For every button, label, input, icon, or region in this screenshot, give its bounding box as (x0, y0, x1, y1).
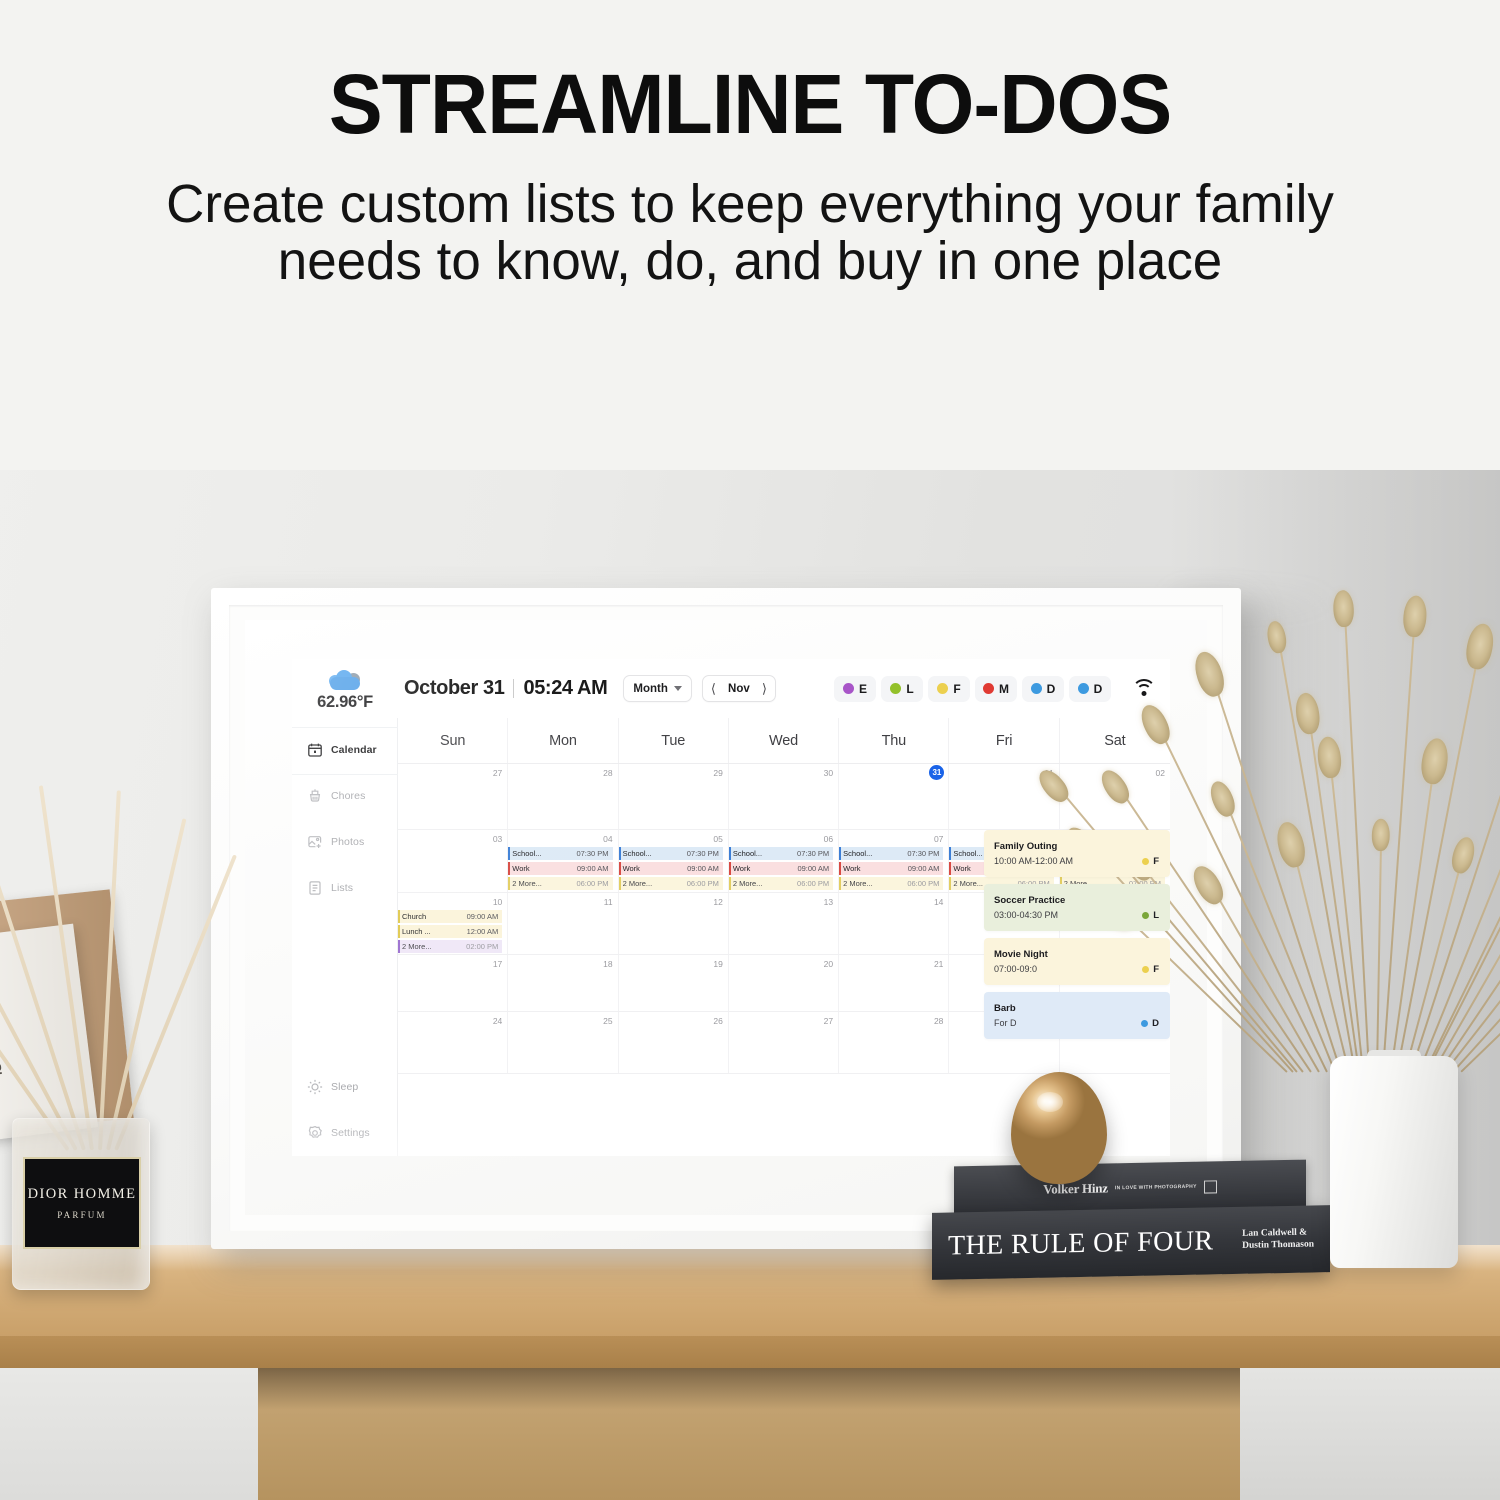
calendar-day-cell[interactable]: 30 (729, 764, 839, 829)
diffuser-label: DIOR HOMME PARFUM (23, 1157, 141, 1249)
day-number: 27 (729, 1016, 833, 1026)
event-title: School... (623, 849, 652, 858)
grass-tuft (1402, 595, 1428, 638)
event-title: 2 More... (843, 879, 873, 888)
grass-tuft (1449, 835, 1478, 876)
event-title: 2 More... (512, 879, 542, 888)
settings-icon (307, 1125, 323, 1141)
day-number: 18 (508, 959, 612, 969)
grass-tuft (1315, 735, 1342, 779)
photos-icon (307, 834, 323, 850)
view-selector-label: Month (633, 683, 667, 695)
sidebar-item-label: Calendar (331, 744, 377, 756)
event-card-title: Soccer Practice (994, 895, 1159, 906)
member-initial: F (953, 682, 960, 696)
member-filter-chips: ELFMDD (834, 676, 1111, 702)
day-number: 25 (508, 1016, 612, 1026)
event-time: 07:30 PM (907, 849, 939, 858)
sidebar-item-label: Sleep (331, 1081, 358, 1093)
event-title: School... (512, 849, 541, 858)
owner-initial: D (1152, 1018, 1159, 1029)
calendar-event-chip[interactable]: 2 More...06:00 PM (619, 877, 723, 890)
event-detail-card[interactable]: Movie Night07:00-09:0F (984, 938, 1170, 985)
calendar-day-cell[interactable]: 14 (839, 893, 949, 954)
sidebar-item-lists[interactable]: Lists (292, 865, 397, 911)
day-number: 20 (729, 959, 833, 969)
member-initial: E (859, 682, 867, 696)
calendar-event-chip[interactable]: Lunch ...12:00 AM (398, 925, 502, 938)
member-initial: L (906, 682, 913, 696)
day-number: 07 (839, 834, 943, 844)
event-title: School... (733, 849, 762, 858)
day-events: Church09:00 AMLunch ...12:00 AM2 More...… (398, 910, 502, 953)
calendar-day-cell[interactable]: 05School...07:30 PMWork09:00 AM2 More...… (619, 830, 729, 892)
event-card-time: 10:00 AM-12:00 AM (994, 856, 1073, 866)
sidebar-item-label: Settings (331, 1127, 370, 1139)
member-initial: D (1047, 682, 1056, 696)
promo-headline: STREAMLINE TO-DOS (30, 0, 1470, 146)
event-title: School... (843, 849, 872, 858)
event-card-time: For D (994, 1018, 1017, 1028)
reed-diffuser-sticks (20, 770, 140, 1150)
weekday-header-thu: Thu (839, 718, 949, 763)
grass-tuft (1333, 589, 1355, 627)
member-color-dot (937, 683, 948, 694)
lists-icon (307, 880, 323, 896)
month-navigator: ⟨ Nov ⟩ (702, 675, 776, 702)
member-color-dot (843, 683, 854, 694)
grass-stem (1390, 780, 1433, 1072)
day-events: School...07:30 PMWork09:00 AM2 More...06… (729, 847, 833, 890)
day-number: 04 (508, 834, 612, 844)
event-title: 2 More... (733, 879, 763, 888)
calendar-day-cell[interactable]: 28 (508, 764, 618, 829)
day-events: School...07:30 PMWork09:00 AM2 More...06… (839, 847, 943, 890)
sleep-icon (307, 1079, 323, 1095)
calendar-day-cell[interactable]: 21 (839, 955, 949, 1011)
sidebar-item-label: Chores (331, 790, 365, 802)
event-card-title: Barb (994, 1003, 1159, 1014)
day-number: 05 (619, 834, 723, 844)
egg-highlight (1037, 1092, 1063, 1112)
sidebar-spacer (292, 911, 397, 1064)
event-time: 09:00 AM (797, 864, 829, 873)
book-authors: Lan Caldwell &Dustin Thomason (1242, 1227, 1314, 1252)
calendar-event-chip[interactable]: School...07:30 PM (839, 847, 943, 860)
event-time: 09:00 AM (467, 912, 499, 921)
calendar-day-cell[interactable]: 24 (398, 1012, 508, 1073)
weekday-header-fri: Fri (949, 718, 1059, 763)
event-title: Work (843, 864, 860, 873)
cloud-icon (328, 669, 362, 691)
event-card-owner: L (1142, 910, 1159, 921)
event-card-row: 10:00 AM-12:00 AMF (994, 856, 1159, 867)
event-card-row: 07:00-09:0F (994, 964, 1159, 975)
event-title: School... (953, 849, 982, 858)
calendar-day-cell[interactable]: 27 (729, 1012, 839, 1073)
day-number: 28 (508, 768, 612, 778)
event-time: 06:00 PM (907, 879, 939, 888)
member-initial: D (1094, 682, 1103, 696)
divider (513, 679, 514, 698)
member-initial: M (999, 682, 1009, 696)
event-detail-card[interactable]: Family Outing10:00 AM-12:00 AMF (984, 830, 1170, 877)
event-time: 07:30 PM (687, 849, 719, 858)
grass-tuft (1419, 737, 1451, 786)
temperature-value: 62.96°F (317, 693, 373, 712)
calendar-day-cell[interactable]: 04School...07:30 PMWork09:00 AM2 More...… (508, 830, 618, 892)
book-subtitle: IN LOVE WITH PHOTOGRAPHY (1115, 1184, 1197, 1192)
calendar-day-cell[interactable]: 17 (398, 955, 508, 1011)
member-color-dot (983, 683, 994, 694)
current-time: 05:24 AM (523, 677, 607, 700)
event-card-time: 03:00-04:30 PM (994, 910, 1058, 920)
owner-color-dot (1142, 966, 1149, 973)
event-card-row: 03:00-04:30 PML (994, 910, 1159, 921)
weekday-header-row: SunMonTueWedThuFriSat (398, 718, 1170, 764)
dried-grass-decor (1180, 512, 1500, 1072)
app-sidebar: CalendarChoresPhotosListsSleepSettings (292, 718, 398, 1156)
date-time-display: October 31 05:24 AM (404, 677, 607, 700)
member-color-dot (890, 683, 901, 694)
day-number: 17 (398, 959, 502, 969)
calendar-event-chip[interactable]: Work09:00 AM (619, 862, 723, 875)
calendar-day-cell[interactable]: 18 (508, 955, 618, 1011)
book-rule-of-four: THE RULE OF FOUR Lan Caldwell &Dustin Th… (932, 1205, 1330, 1280)
grass-tuft (1371, 819, 1389, 852)
owner-color-dot (1142, 858, 1149, 865)
chevron-down-icon (674, 686, 682, 691)
calendar-day-cell[interactable]: 29 (619, 764, 729, 829)
day-number: 19 (619, 959, 723, 969)
chevron-left-icon[interactable]: ⟨ (711, 682, 716, 695)
day-number: 11 (508, 897, 612, 907)
sidebar-item-calendar[interactable]: Calendar (292, 727, 397, 773)
event-time: 06:00 PM (687, 879, 719, 888)
cabinet-left-door (0, 1368, 258, 1500)
day-number: 28 (839, 1016, 943, 1026)
grass-tuft (1293, 692, 1321, 736)
member-chip-m-3[interactable]: M (975, 676, 1017, 702)
grass-tuft (1463, 621, 1497, 671)
calendar-event-chip[interactable]: Work09:00 AM (729, 862, 833, 875)
calendar-event-chip[interactable]: Work09:00 AM (839, 862, 943, 875)
day-events: School...07:30 PMWork09:00 AM2 More...06… (508, 847, 612, 890)
weekday-header-mon: Mon (508, 718, 618, 763)
cabinet-shadow (258, 1368, 1240, 1410)
day-number: 21 (839, 959, 943, 969)
book-logo-mark (1204, 1180, 1217, 1193)
event-time: 06:00 PM (797, 879, 829, 888)
event-title: 2 More... (402, 942, 432, 951)
calendar-event-chip[interactable]: 2 More...06:00 PM (729, 877, 833, 890)
event-title: 2 More... (953, 879, 983, 888)
sidebar-item-settings[interactable]: Settings (292, 1110, 397, 1156)
calendar-event-chip[interactable]: School...07:30 PM (619, 847, 723, 860)
owner-color-dot (1141, 1020, 1148, 1027)
sidebar-item-chores[interactable]: Chores (292, 773, 397, 819)
day-number: 30 (729, 768, 833, 778)
weekday-header-sun: Sun (398, 718, 508, 763)
event-detail-card[interactable]: Soccer Practice03:00-04:30 PML (984, 884, 1170, 931)
calendar-event-chip[interactable]: 2 More...06:00 PM (508, 877, 612, 890)
grass-stem (1404, 869, 1461, 1072)
calendar-day-cell[interactable]: 27 (398, 764, 508, 829)
calendar-event-chip[interactable]: Work09:00 AM (508, 862, 612, 875)
chevron-right-icon[interactable]: ⟩ (762, 682, 767, 695)
calendar-event-chip[interactable]: School...07:30 PM (729, 847, 833, 860)
event-time: 02:00 PM (466, 942, 498, 951)
event-card-time: 07:00-09:0 (994, 964, 1037, 974)
event-time: 09:00 AM (908, 864, 940, 873)
event-card-row: For DD (994, 1018, 1159, 1029)
day-number: 14 (839, 897, 943, 907)
calendar-day-cell[interactable]: 12 (619, 893, 729, 954)
weather-widget[interactable]: 62.96°F (292, 659, 398, 725)
event-detail-panel: Family Outing10:00 AM-12:00 AMFSoccer Pr… (984, 830, 1170, 1039)
top-bar-controls: October 31 05:24 AM Month ⟨ Nov ⟩ ELFMDD (398, 659, 1170, 718)
calendar-day-cell[interactable]: 26 (619, 1012, 729, 1073)
event-time: 07:30 PM (576, 849, 608, 858)
wifi-icon (1130, 678, 1158, 700)
event-card-title: Family Outing (994, 841, 1159, 852)
grass-tuft (1191, 648, 1229, 700)
chores-icon (307, 788, 323, 804)
day-number: 12 (619, 897, 723, 907)
day-events: School...07:30 PMWork09:00 AM2 More...06… (619, 847, 723, 890)
cabinet-right-door (1240, 1368, 1500, 1500)
book-title: THE RULE OF FOUR (948, 1225, 1213, 1262)
day-number: 26 (619, 1016, 723, 1026)
view-selector-dropdown[interactable]: Month (623, 675, 691, 702)
day-number: 06 (729, 834, 833, 844)
event-title: Work (953, 864, 970, 873)
weekday-header-wed: Wed (729, 718, 839, 763)
diffuser-brand: DIOR HOMME (28, 1186, 137, 1203)
event-title: 2 More... (623, 879, 653, 888)
calendar-day-cell[interactable]: 10Church09:00 AMLunch ...12:00 AM2 More.… (398, 893, 508, 954)
calendar-day-cell[interactable]: 03 (398, 830, 508, 892)
event-time: 06:00 PM (576, 879, 608, 888)
member-color-dot (1031, 683, 1042, 694)
owner-initial: L (1153, 910, 1159, 921)
day-number: 27 (398, 768, 502, 778)
grass-tuft (1273, 820, 1309, 871)
member-chip-f-2[interactable]: F (928, 676, 970, 702)
day-number: 10 (398, 897, 502, 907)
calendar-day-cell[interactable]: 20 (729, 955, 839, 1011)
member-chip-d-4[interactable]: D (1022, 676, 1064, 702)
sidebar-item-label: Lists (331, 882, 353, 894)
grass-tuft (1206, 778, 1239, 820)
grass-tuft (1265, 619, 1288, 654)
member-color-dot (1078, 683, 1089, 694)
owner-initial: F (1153, 964, 1159, 975)
event-title: Work (623, 864, 640, 873)
ceramic-vase (1330, 1056, 1458, 1268)
diffuser-type: PARFUM (57, 1210, 106, 1220)
calendar-day-cell[interactable]: 13 (729, 893, 839, 954)
calendar-day-cell[interactable]: 31 (839, 764, 949, 829)
day-number: 03 (398, 834, 502, 844)
event-title: Work (733, 864, 750, 873)
calendar-day-cell[interactable]: 11 (508, 893, 618, 954)
sidebar-item-label: Photos (331, 836, 364, 848)
day-number: 31 (929, 765, 944, 780)
event-card-owner: F (1142, 856, 1159, 867)
calendar-day-cell[interactable]: 19 (619, 955, 729, 1011)
day-number: 24 (398, 1016, 502, 1026)
month-nav-label: Nov (727, 683, 751, 695)
calendar-icon (307, 742, 323, 758)
calendar-event-chip[interactable]: 2 More...02:00 PM (398, 940, 502, 953)
calendar-day-cell[interactable]: 07School...07:30 PMWork09:00 AM2 More...… (839, 830, 949, 892)
event-time: 09:00 AM (687, 864, 719, 873)
grass-stem (1376, 847, 1382, 1072)
calendar-day-cell[interactable]: 06School...07:30 PMWork09:00 AM2 More...… (729, 830, 839, 892)
app-top-bar: 62.96°F October 31 05:24 AM Month ⟨ Nov … (292, 659, 1170, 718)
owner-color-dot (1142, 912, 1149, 919)
calendar-event-chip[interactable]: Church09:00 AM (398, 910, 502, 923)
calendar-event-chip[interactable]: School...07:30 PM (508, 847, 612, 860)
event-title: Work (512, 864, 529, 873)
event-time: 07:30 PM (797, 849, 829, 858)
event-title: Lunch ... (402, 927, 431, 936)
day-number: 29 (619, 768, 723, 778)
event-time: 09:00 AM (577, 864, 609, 873)
sidebar-item-photos[interactable]: Photos (292, 819, 397, 865)
event-title: Church (402, 912, 426, 921)
event-time: 12:00 AM (467, 927, 499, 936)
calendar-day-cell[interactable]: 25 (508, 1012, 618, 1073)
promo-subheadline: Create custom lists to keep everything y… (15, 176, 1485, 290)
member-chip-d-5[interactable]: D (1069, 676, 1111, 702)
event-card-title: Movie Night (994, 949, 1159, 960)
day-number: 13 (729, 897, 833, 907)
desk-edge (0, 1336, 1500, 1370)
event-card-owner: F (1142, 964, 1159, 975)
sidebar-item-sleep[interactable]: Sleep (292, 1064, 397, 1110)
weekday-header-tue: Tue (619, 718, 729, 763)
member-chip-l-1[interactable]: L (881, 676, 923, 702)
calendar-event-chip[interactable]: 2 More...06:00 PM (839, 877, 943, 890)
promo-header: STREAMLINE TO-DOS Create custom lists to… (0, 0, 1500, 470)
current-date: October 31 (404, 677, 504, 700)
event-card-owner: D (1141, 1018, 1159, 1029)
member-chip-e-0[interactable]: E (834, 676, 876, 702)
diffuser-bottle: DIOR HOMME PARFUM (12, 1118, 150, 1290)
calendar-day-cell[interactable]: 28 (839, 1012, 949, 1073)
owner-initial: F (1153, 856, 1159, 867)
event-detail-card[interactable]: BarbFor DD (984, 992, 1170, 1039)
